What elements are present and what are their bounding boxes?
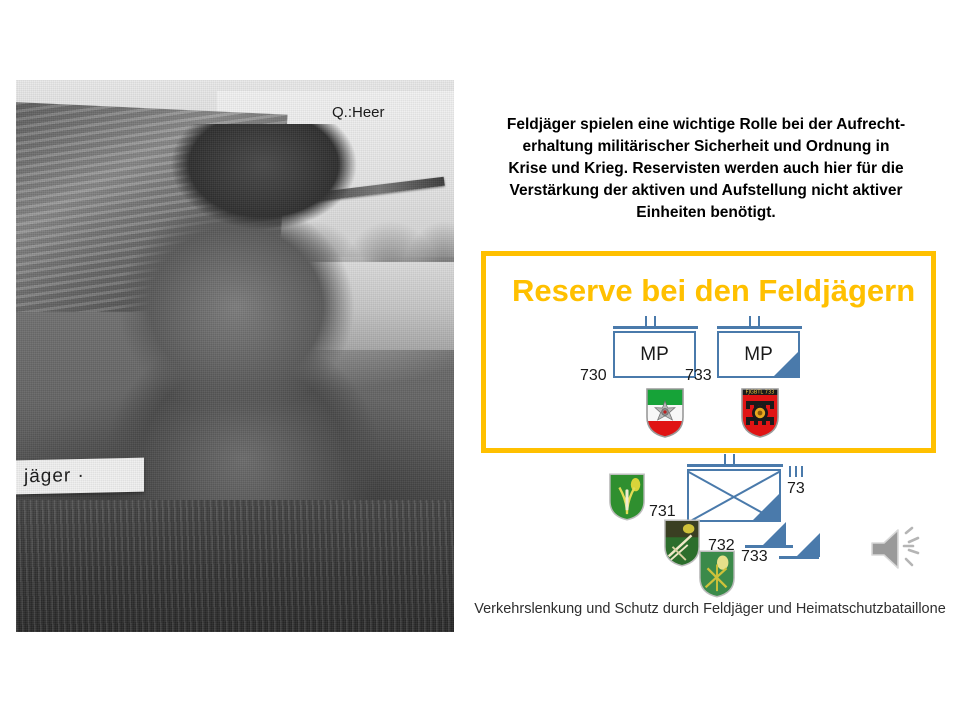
unit-box-730-label: MP	[640, 344, 669, 366]
unit-73-echelon-tick-2	[733, 454, 735, 464]
svg-text:FJGBTL 733: FJGBTL 733	[746, 389, 775, 395]
unit-73-echelon-tick-1	[724, 454, 726, 464]
unit-730-echelon-rail	[613, 326, 698, 329]
intro-line-1: Feldjäger spielen eine wichtige Rolle be…	[462, 114, 950, 136]
callout-heading: Reserve bei den Feldjägern	[512, 273, 952, 309]
intro-line-3: Krise und Krieg. Reservisten werden auch…	[462, 158, 950, 180]
nrw-star-shield-icon	[645, 387, 685, 439]
feldjaeger-photograph: jäger ·	[16, 80, 454, 632]
intro-line-4: Verstärkung der aktiven und Aufstellung …	[462, 180, 950, 202]
crest-shield-731	[608, 472, 646, 522]
speaker-icon	[866, 521, 930, 577]
unit-73-regiment-tick-2	[795, 466, 797, 477]
unit-box-73[interactable]	[687, 469, 781, 522]
unit-box-733[interactable]: MP	[717, 331, 800, 378]
fjgbtl-733-shield-icon: FJGBTL 733	[740, 387, 780, 439]
unit-73-regiment-tick-3	[801, 466, 803, 477]
unit-733-reserve-pennant	[796, 533, 820, 557]
unit-box-730[interactable]: MP	[613, 331, 696, 378]
intro-line-2: erhaltung militärischer Sicherheit und O…	[462, 136, 950, 158]
green-sword-shield-icon	[663, 518, 701, 568]
crest-shield-733-lower	[698, 549, 736, 599]
diagram-caption: Verkehrslenkung und Schutz durch Feldjäg…	[470, 601, 950, 617]
crest-shield-730	[645, 387, 685, 439]
crest-shield-733: FJGBTL 733	[740, 387, 780, 439]
unit-73-regiment-tick-1	[789, 466, 791, 477]
unit-730-echelon-tick-1	[645, 316, 647, 326]
unit-number-733: 733	[685, 367, 712, 385]
unit-number-730: 730	[580, 367, 607, 385]
photo-source-label: Q.:Heer	[332, 104, 385, 121]
unit-733-echelon-tick-1	[749, 316, 751, 326]
photo-foreground-ground	[16, 500, 454, 632]
audio-speaker-icon[interactable]	[866, 521, 930, 577]
unit-number-73: 73	[787, 480, 805, 498]
unit-733-echelon-rail	[717, 326, 802, 329]
crest-shield-732	[663, 518, 701, 568]
unit-733-reserve-triangle	[773, 351, 799, 377]
green-crossed-shield-icon	[698, 549, 736, 599]
unit-732-reserve-pennant	[762, 522, 786, 546]
unit-number-733-lower: 733	[741, 548, 768, 566]
green-wheat-shield-icon	[608, 472, 646, 522]
unit-73-reserve-triangle	[752, 493, 780, 521]
unit-73-echelon-rail	[687, 464, 783, 467]
unit-box-733-label: MP	[744, 344, 773, 366]
unit-733-echelon-tick-2	[758, 316, 760, 326]
vehicle-stencil-text: jäger ·	[24, 460, 146, 493]
unit-730-echelon-tick-2	[654, 316, 656, 326]
intro-line-5: Einheiten benötigt.	[462, 202, 950, 224]
intro-paragraph: Feldjäger spielen eine wichtige Rolle be…	[462, 114, 950, 224]
